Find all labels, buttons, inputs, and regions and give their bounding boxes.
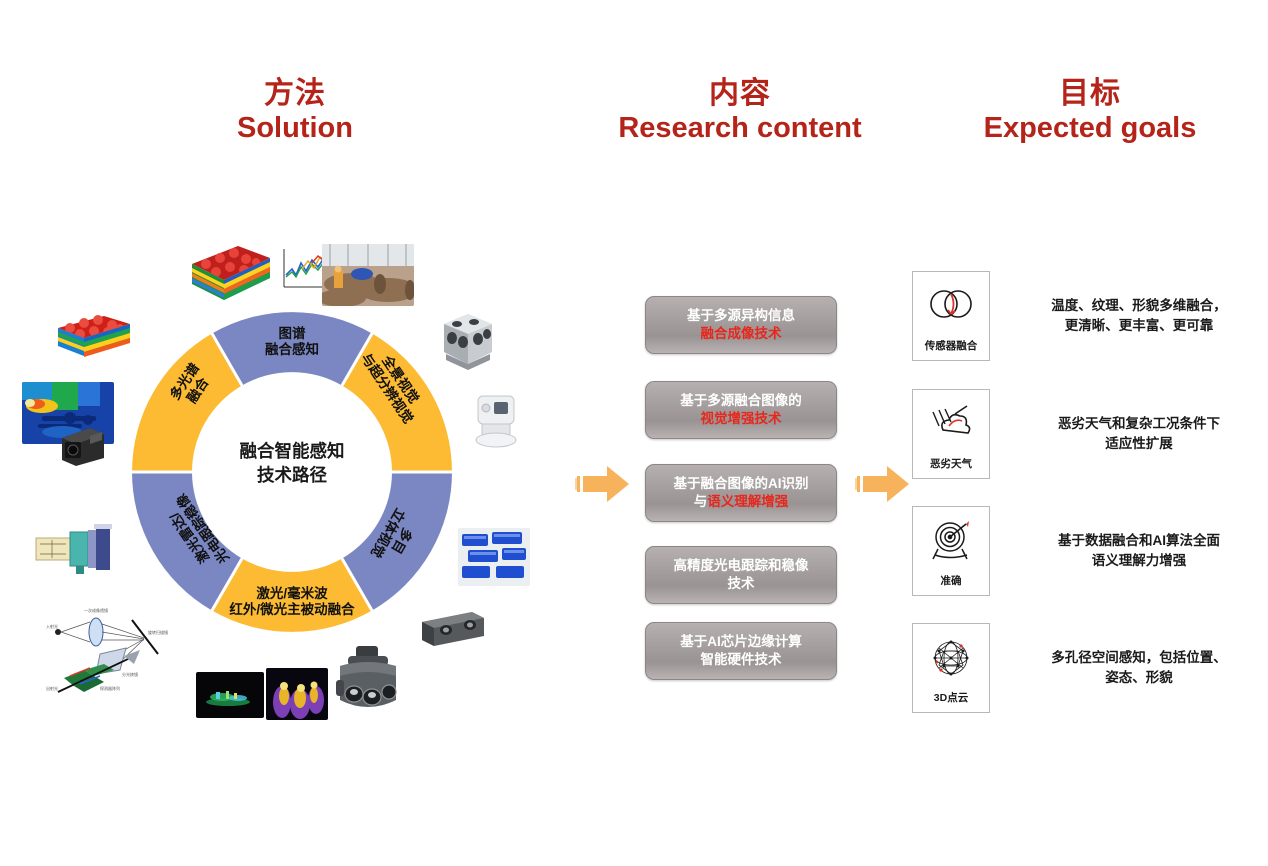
apple-spectral-stack-thumb (48, 312, 134, 368)
goal-caption-bad-weather: 恶劣天气 (930, 456, 972, 471)
svg-text:探测器阵列: 探测器阵列 (100, 685, 120, 691)
column-header-content-cn: 内容 (580, 76, 900, 111)
column-header-solution-en: Solution (160, 111, 430, 145)
column-header-content: 内容 Research content (580, 76, 900, 146)
process-box-4-line2: 技术 (728, 575, 755, 593)
goal-card-accuracy: 准确 (912, 506, 990, 596)
goal-row-accuracy[interactable]: 准确 基于数据融合和AI算法全面 语义理解力增强 (912, 505, 1262, 597)
goal-card-sensor-fusion: 传感器融合 (912, 271, 990, 361)
goal-text-bad-weather: 恶劣天气和复杂工况条件下 适应性扩展 (1016, 414, 1262, 453)
process-box-2-line1: 基于多源融合图像的 (680, 392, 802, 410)
goal-row-point-cloud[interactable]: 3D点云 多孔径空间感知，包括位置、 姿态、形貌 (912, 622, 1262, 714)
goal-caption-sensor-fusion: 传感器融合 (925, 338, 978, 353)
column-header-solution: 方法 Solution (160, 76, 430, 146)
column-header-goals-cn: 目标 (930, 76, 1250, 111)
goal-card-point-cloud: 3D点云 (912, 623, 990, 713)
scanner-thumb (470, 390, 522, 450)
blue-structure-thumb (458, 528, 530, 586)
svg-text:一次成像透镜: 一次成像透镜 (84, 607, 108, 613)
process-box-5[interactable]: 基于AI芯片边缘计算 智能硬件技术 (645, 622, 837, 680)
process-box-1[interactable]: 基于多源异构信息 融合成像技术 (645, 296, 837, 354)
gimbal-turret-thumb (330, 644, 406, 722)
industrial-pipe-thumb (322, 244, 414, 306)
goal-text-point-cloud: 多孔径空间感知，包括位置、 姿态、形貌 (1016, 648, 1262, 687)
process-box-5-line2: 智能硬件技术 (701, 651, 782, 669)
column-header-goals-en: Expected goals (930, 111, 1250, 145)
process-box-5-line1: 基于AI芯片边缘计算 (680, 633, 802, 651)
process-box-1-line2: 融合成像技术 (701, 325, 782, 343)
process-box-2-line2: 视觉增强技术 (701, 410, 782, 428)
arrow-content-to-goals (855, 462, 913, 506)
goal-card-bad-weather: 恶劣天气 (912, 389, 990, 479)
svg-text:入射光: 入射光 (46, 623, 58, 629)
svg-text:出射光: 出射光 (46, 685, 58, 691)
process-box-3-line1: 基于融合图像的AI识别 (674, 475, 809, 493)
column-header-solution-cn: 方法 (160, 76, 430, 111)
svg-text:分光棱镜: 分光棱镜 (122, 671, 138, 677)
column-header-goals: 目标 Expected goals (930, 76, 1250, 146)
process-box-4-line1: 高精度光电跟踪和稳像 (674, 557, 809, 575)
goal-row-sensor-fusion[interactable]: 传感器融合 温度、纹理、形貌多维融合， 更清晰、更丰富、更可靠 (912, 270, 1262, 362)
goal-row-bad-weather[interactable]: 恶劣天气 恶劣天气和复杂工况条件下 适应性扩展 (912, 388, 1262, 480)
lidar-cloud-thumb (196, 672, 264, 718)
sensor-fusion-icon (925, 282, 977, 330)
arrow-solution-to-content (575, 462, 633, 506)
goal-caption-accuracy: 准确 (941, 573, 962, 588)
optical-module-thumb (32, 522, 124, 580)
goal-text-sensor-fusion: 温度、纹理、形貌多维融合， 更清晰、更丰富、更可靠 (1016, 296, 1262, 335)
donut-center-label: 融合智能感知 技术路径 (192, 440, 392, 487)
process-box-2[interactable]: 基于多源融合图像的 视觉增强技术 (645, 381, 837, 439)
process-box-4[interactable]: 高精度光电跟踪和稳像 技术 (645, 546, 837, 604)
goal-text-accuracy: 基于数据融合和AI算法全面 语义理解力增强 (1016, 531, 1262, 570)
point-cloud-icon (925, 634, 977, 682)
technology-roadmap-donut: 图谱 融合感知 全景视觉 与超分辨视觉 多目 立体视觉 激光/毫米波 红外/微光… (128, 308, 456, 636)
process-box-1-line1: 基于多源异构信息 (687, 307, 795, 325)
hyperspectral-cube-thumb (186, 240, 274, 310)
camera-module-thumb (56, 424, 108, 470)
target-icon (925, 517, 977, 565)
diagram-canvas: 方法 Solution 内容 Research content 目标 Expec… (0, 0, 1268, 866)
thermal-crowd-thumb (266, 668, 328, 720)
process-box-3-line2: 与语义理解增强 (694, 493, 789, 511)
process-box-3[interactable]: 基于融合图像的AI识别 与语义理解增强 (645, 464, 837, 522)
goal-caption-point-cloud: 3D点云 (934, 690, 968, 705)
column-header-content-en: Research content (580, 111, 900, 145)
bad-weather-icon (925, 400, 977, 448)
